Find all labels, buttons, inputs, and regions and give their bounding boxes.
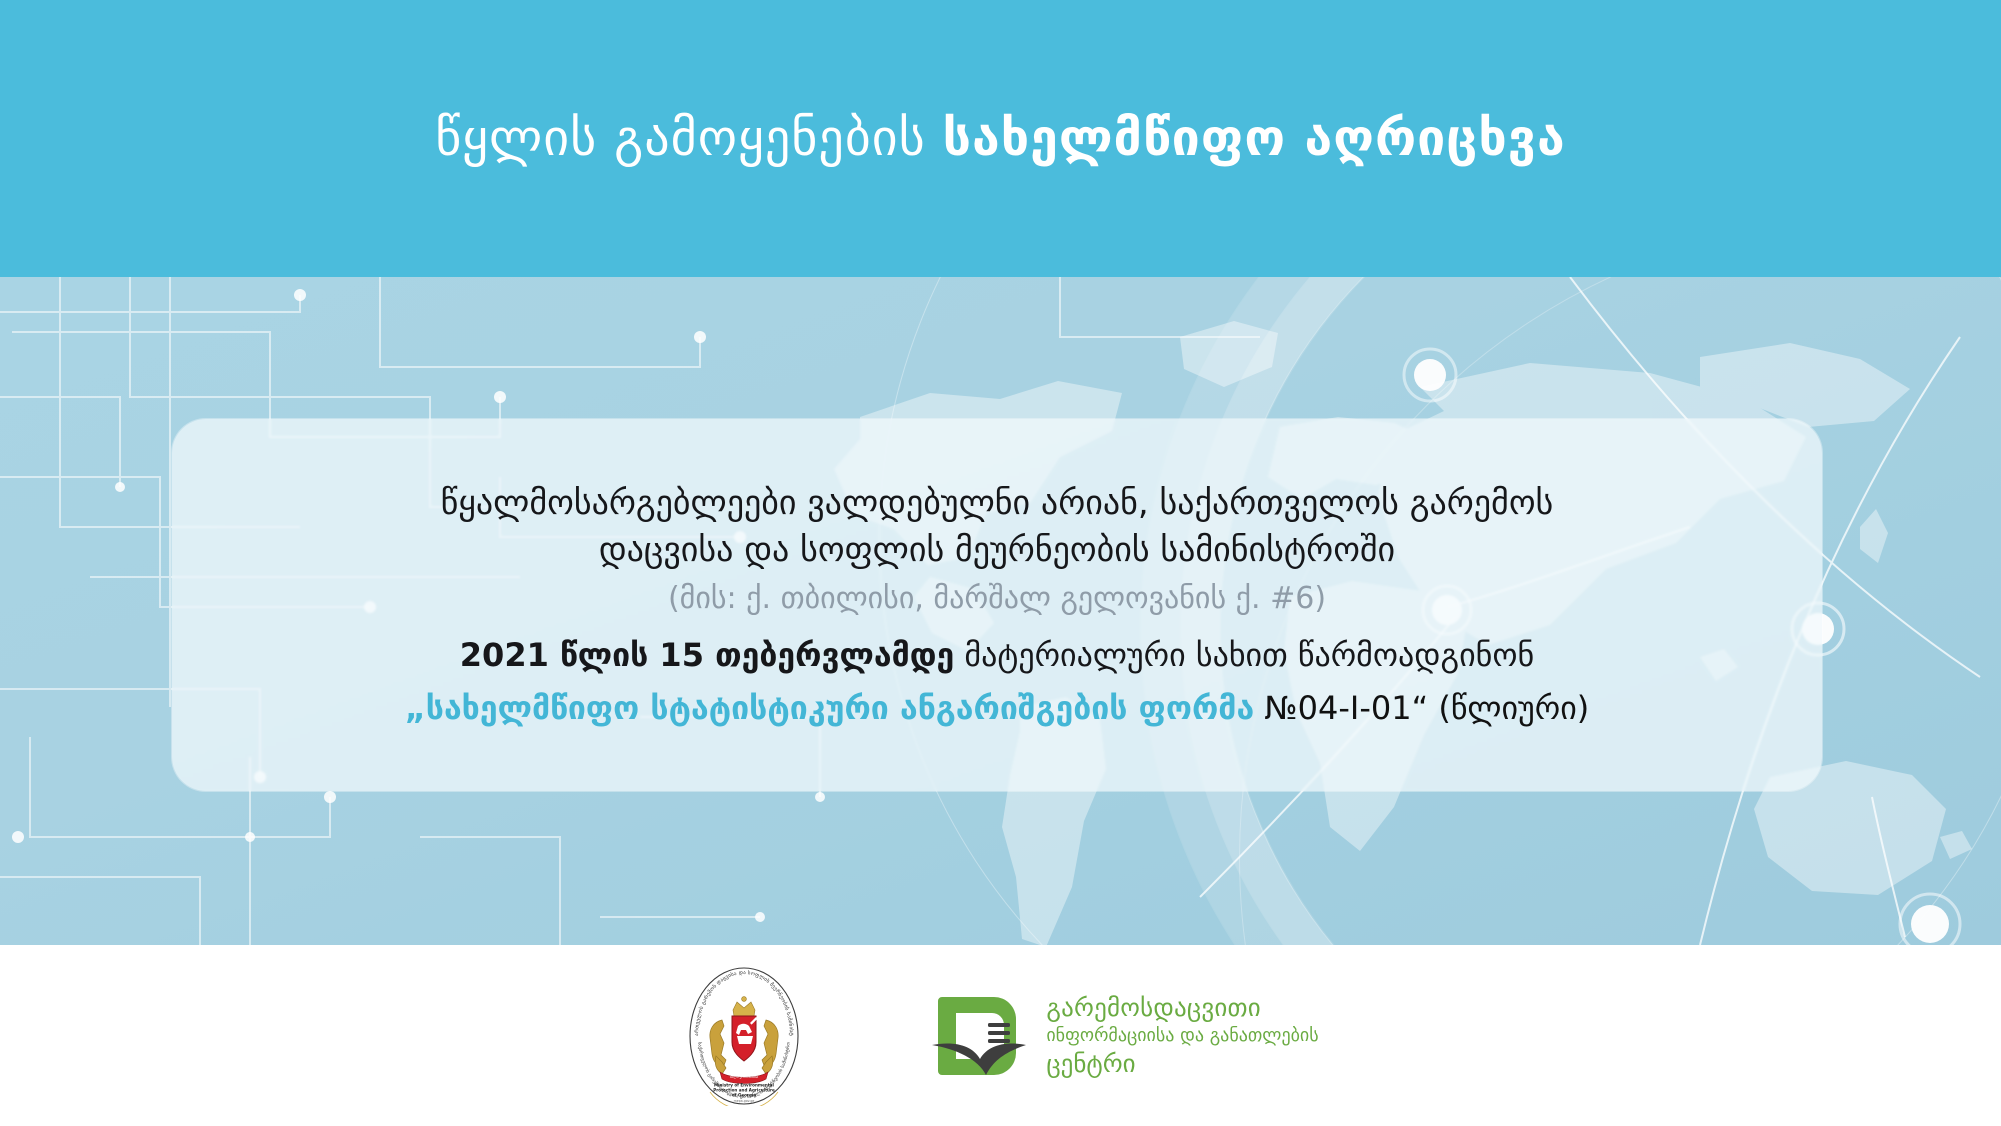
eiec-line-2: ინფორმაციისა და განათლების: [1046, 1025, 1318, 1046]
ministry-seal-logo: საქართველოს გარემოს დაცვისა და სოფლის მე…: [682, 966, 806, 1106]
svg-text:mepa.gov.ge: mepa.gov.ge: [734, 1099, 755, 1103]
content-card: წყალმოსარგებლეები ვალდებულნი არიან, საქა…: [172, 419, 1822, 791]
notice-line-2: დაცვისა და სოფლის მეურნეობის სამინისტროშ…: [599, 527, 1395, 574]
eiec-logo: გარემოსდაცვითი ინფორმაციისა და განათლები…: [924, 983, 1318, 1089]
deadline-date: 2021 წლის 15 თებერვლამდე: [460, 636, 954, 674]
form-name: სახელმწიფო სტატისტიკური ანგარიშგების ფორ…: [426, 689, 1254, 727]
notice-line-1: წყალმოსარგებლეები ვალდებულნი არიან, საქა…: [441, 480, 1554, 527]
page-title: წყლის გამოყენების სახელმწიფო აღრიცხვა: [435, 111, 1565, 166]
header-band: წყლის გამოყენების სახელმწიფო აღრიცხვა: [0, 0, 2001, 277]
ministry-address: (მის: ქ. თბილისი, მარშალ გელოვანის ქ. #6…: [668, 578, 1326, 619]
eiec-line-3: ცენტრი: [1046, 1049, 1318, 1078]
page-title-bold: სახელმწიფო აღრიცხვა: [943, 109, 1566, 167]
deadline-line: 2021 წლის 15 თებერვლამდე მატერიალური სახ…: [460, 633, 1534, 677]
footer-logos: საქართველოს გარემოს დაცვისა და სოფლის მე…: [0, 945, 2001, 1126]
form-period: (წლიური): [1438, 689, 1589, 727]
deadline-rest: მატერიალური სახით წარმოადგინონ: [954, 636, 1534, 674]
page-title-light: წყლის გამოყენების: [435, 109, 942, 167]
form-number: №04-I-01“: [1254, 689, 1438, 727]
form-open-quote: „: [405, 689, 426, 727]
eiec-mark-icon: [924, 983, 1030, 1089]
svg-text:ძალა ერთობაშია: ძალა ერთობაშია: [730, 1075, 759, 1079]
form-reference-line: „სახელმწიფო სტატისტიკური ანგარიშგების ფო…: [405, 686, 1590, 730]
eiec-wordmark: გარემოსდაცვითი ინფორმაციისა და განათლები…: [1046, 993, 1318, 1078]
hero-stage: წყალმოსარგებლეები ვალდებულნი არიან, საქა…: [0, 277, 2001, 945]
eiec-line-1: გარემოსდაცვითი: [1046, 993, 1318, 1022]
